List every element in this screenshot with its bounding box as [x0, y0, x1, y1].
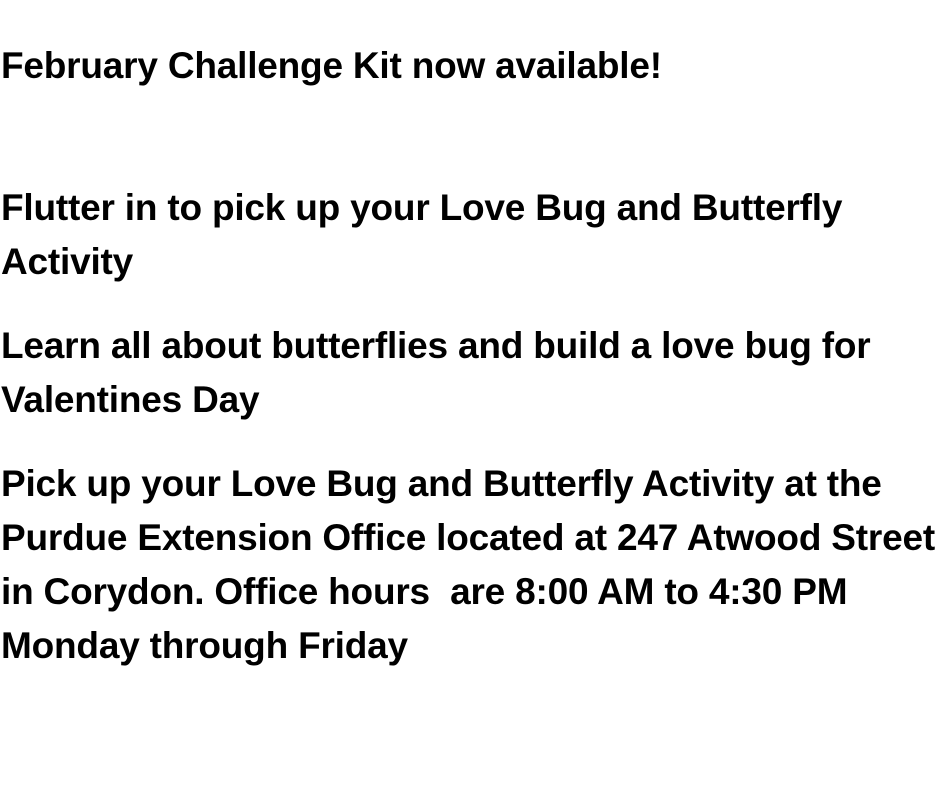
page-title: February Challenge Kit now available! — [1, 0, 940, 93]
paragraph-pickup-location-hours: Pick up your Love Bug and Butterfly Acti… — [1, 457, 940, 673]
paragraph-activity-pickup: Flutter in to pick up your Love Bug and … — [1, 181, 940, 289]
document-page: February Challenge Kit now available! Fl… — [0, 0, 940, 788]
blank-paragraph-spacer — [1, 93, 940, 181]
paragraph-activity-description: Learn all about butterflies and build a … — [1, 319, 940, 427]
